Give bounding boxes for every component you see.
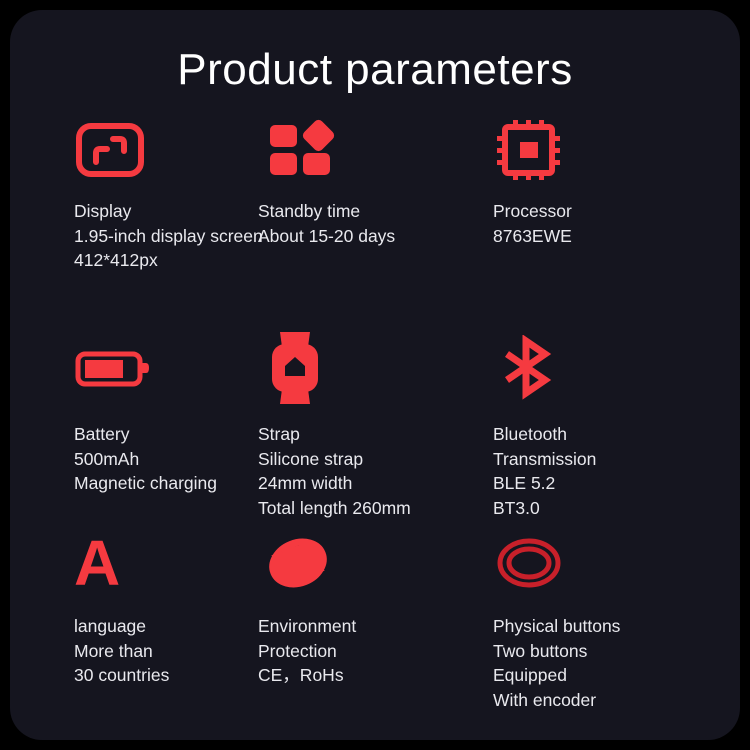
parameter-line: Display [74,199,250,224]
parameter-line: Standby time [258,199,470,224]
parameter-line: Physical buttons [493,614,740,639]
letter-a-icon: A [74,530,250,596]
parameter-line: Two buttons [493,639,740,664]
parameter-text: Battery 500mAh Magnetic charging [74,422,250,496]
parameter-line: More than [74,639,250,664]
parameter-line: Transmission [493,447,740,472]
parameter-line: 8763EWE [493,224,740,249]
parameter-line: Environment [258,614,470,639]
parameter-line: Battery [74,422,250,447]
parameter-item-display: Display 1.95-inch display screen 412*412… [10,115,250,330]
parameter-line: Processor [493,199,740,224]
parameter-row: A language More than 30 countries [10,530,740,725]
parameter-line: Bluetooth [493,422,740,447]
parameter-text: Display 1.95-inch display screen 412*412… [74,199,250,273]
parameter-item-bluetooth: Bluetooth Transmission BLE 5.2 BT3.0 [470,330,740,530]
parameter-line: 30 countries [74,663,250,688]
parameter-item-environment-protection: Environment Protection CE，RoHs [250,530,470,725]
parameter-text: Standby time About 15-20 days [258,199,470,248]
parameter-line: Magnetic charging [74,471,250,496]
parameter-line: language [74,614,250,639]
parameter-text: Processor 8763EWE [493,199,740,248]
battery-icon [74,330,250,406]
parameter-line: CE，RoHs [258,663,470,688]
poster-panel: Product parameters Display 1.95-inch dis… [10,10,740,740]
parameter-line: Total length 260mm [258,496,470,521]
parameter-line: 500mAh [74,447,250,472]
parameter-text: Physical buttons Two buttons Equipped Wi… [493,614,740,712]
page-title: Product parameters [10,46,740,94]
parameter-line: Strap [258,422,470,447]
parameter-line: 24mm width [258,471,470,496]
parameter-line: Silicone strap [258,447,470,472]
parameter-line: BT3.0 [493,496,740,521]
parameter-item-processor: Processor 8763EWE [470,115,740,330]
parameter-line: About 15-20 days [258,224,470,249]
parameter-item-strap: Strap Silicone strap 24mm width Total le… [250,330,470,530]
letter-a-glyph: A [74,533,120,593]
parameter-item-battery: Battery 500mAh Magnetic charging [10,330,250,530]
parameter-text: Bluetooth Transmission BLE 5.2 BT3.0 [493,422,740,520]
parameter-text: language More than 30 countries [74,614,250,688]
parameter-line: With encoder [493,688,740,713]
parameter-row: Display 1.95-inch display screen 412*412… [10,115,740,330]
parameter-item-language: A language More than 30 countries [10,530,250,725]
display-icon [74,115,250,185]
parameter-line: Protection [258,639,470,664]
watch-strap-icon [258,330,470,406]
parameter-line: 412*412px [74,248,250,273]
parameter-row: Battery 500mAh Magnetic charging [10,330,740,530]
bluetooth-icon [493,330,740,406]
parameter-line: 1.95-inch display screen [74,224,250,249]
processor-chip-icon [493,115,740,185]
parameter-grid: Display 1.95-inch display screen 412*412… [10,115,740,725]
parameter-text: Strap Silicone strap 24mm width Total le… [258,422,470,520]
physical-button-icon [493,530,740,596]
recycling-icon [258,530,470,596]
product-parameters-poster: Product parameters Display 1.95-inch dis… [0,0,750,750]
parameter-item-physical-buttons: Physical buttons Two buttons Equipped Wi… [470,530,740,725]
standby-time-icon [258,115,470,185]
parameter-line: Equipped [493,663,740,688]
parameter-text: Environment Protection CE，RoHs [258,614,470,688]
parameter-line: BLE 5.2 [493,471,740,496]
parameter-item-standby-time: Standby time About 15-20 days [250,115,470,330]
